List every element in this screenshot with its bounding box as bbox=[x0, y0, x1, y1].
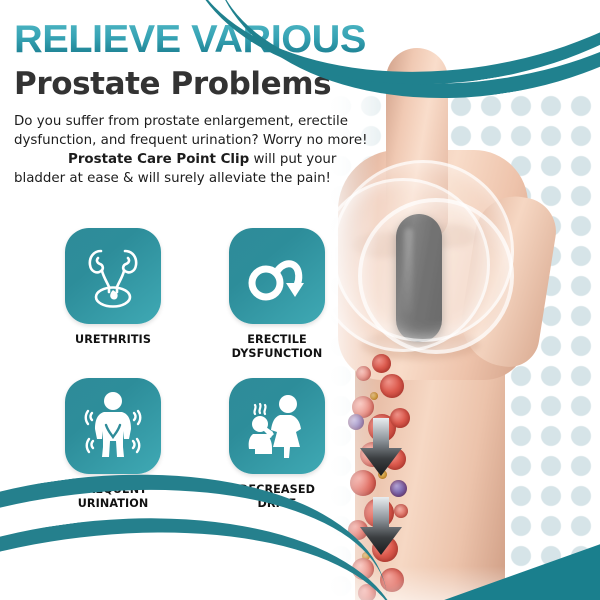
benefit-item-urethritis[interactable]: URETHRITIS bbox=[50, 228, 176, 360]
benefit-label: ERECTILE DYSFUNCTION bbox=[232, 333, 323, 360]
benefits-row: FREQUENT URINATION bbox=[50, 378, 340, 510]
benefits-grid: URETHRITIS ERECTILE DYSFUNCTION bbox=[50, 228, 340, 511]
down-arrow-icon bbox=[358, 418, 404, 478]
vibration-ripple-ring bbox=[358, 198, 514, 354]
page-title-line1: RELIEVE VARIOUS bbox=[14, 20, 412, 59]
male-symbol-drooping-arrow-icon bbox=[245, 247, 309, 305]
benefit-item-erectile-dysfunction[interactable]: ERECTILE DYSFUNCTION bbox=[214, 228, 340, 360]
benefits-row: URETHRITIS ERECTILE DYSFUNCTION bbox=[50, 228, 340, 360]
product-name: Prostate Care Point Clip bbox=[68, 152, 249, 167]
body-paragraph: Do you suffer from prostate enlargement,… bbox=[14, 112, 386, 188]
page-title-line2: Prostate Problems bbox=[14, 68, 404, 101]
flow-direction-arrows bbox=[358, 418, 404, 562]
person-holding-bladder-icon bbox=[82, 391, 144, 461]
body-sentence-1: Do you suffer from prostate enlargement,… bbox=[14, 114, 367, 148]
benefit-label: DECREASED DRIVE bbox=[239, 483, 315, 510]
benefit-tile bbox=[229, 378, 325, 474]
kidney-bladder-icon bbox=[81, 242, 145, 310]
benefit-tile bbox=[65, 228, 161, 324]
down-arrow-icon bbox=[358, 497, 404, 557]
benefit-label: FREQUENT URINATION bbox=[78, 483, 149, 510]
benefit-tile bbox=[229, 228, 325, 324]
benefit-label: URETHRITIS bbox=[75, 333, 151, 347]
product-advertisement-poster: RELIEVE VARIOUS Prostate Problems Do you… bbox=[0, 0, 600, 600]
couple-rejection-icon bbox=[244, 392, 310, 460]
benefit-item-frequent-urination[interactable]: FREQUENT URINATION bbox=[50, 378, 176, 510]
headline-block: RELIEVE VARIOUS Prostate Problems Do you… bbox=[14, 20, 404, 188]
benefit-tile bbox=[65, 378, 161, 474]
benefit-item-decreased-drive[interactable]: DECREASED DRIVE bbox=[214, 378, 340, 510]
